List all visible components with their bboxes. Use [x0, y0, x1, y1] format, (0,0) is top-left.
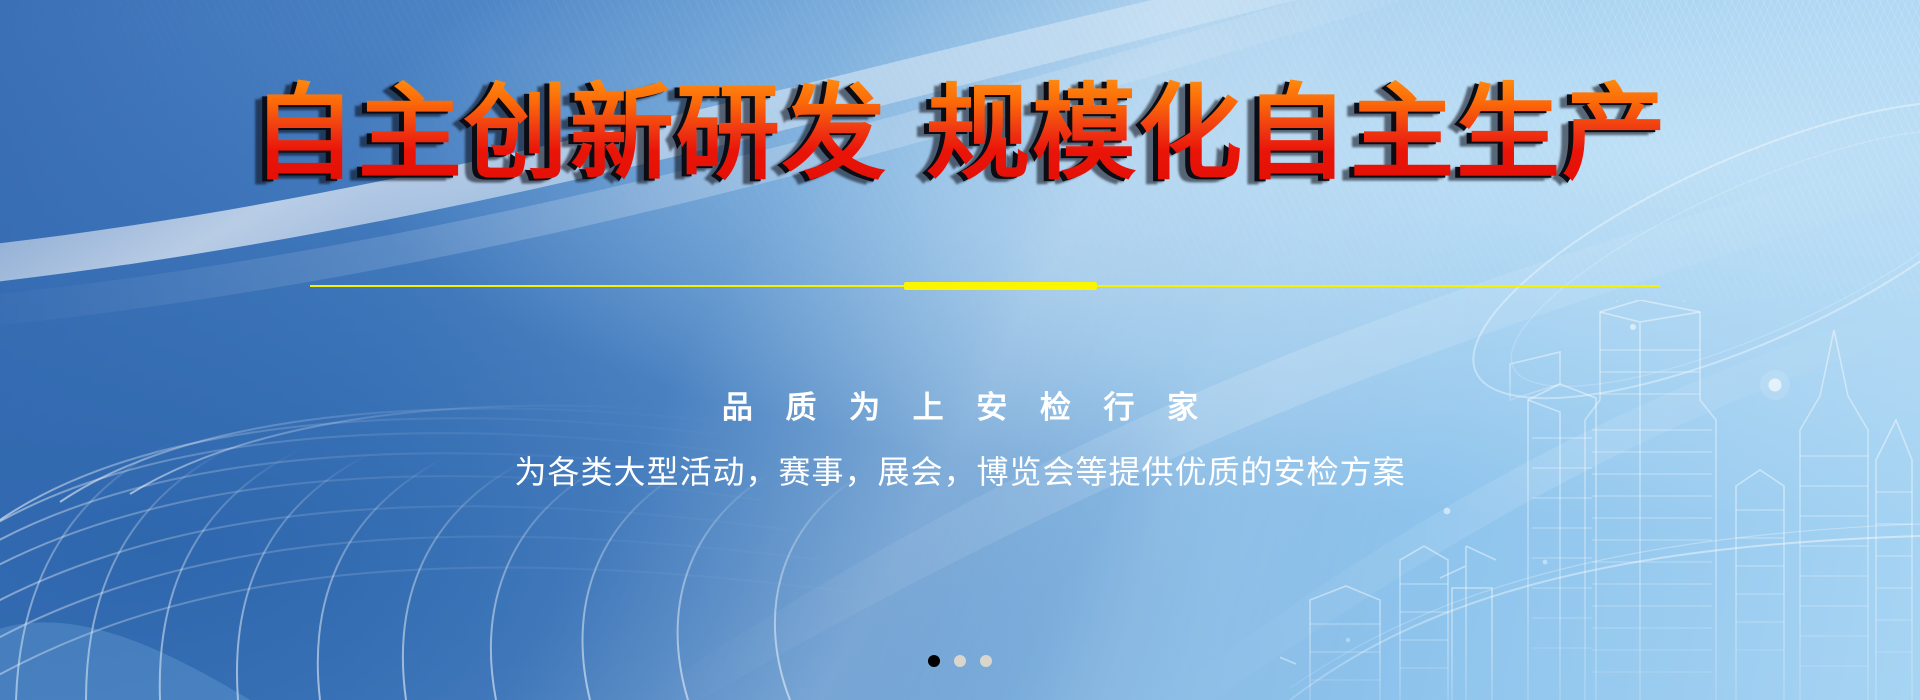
subtitle-primary: 品 质 为 上 安 检 行 家 — [0, 382, 1920, 427]
title-divider — [310, 282, 1660, 290]
banner-content: 自主创新研发 规模化自主生产 品 质 为 上 安 检 行 家 为各类大型活动，赛… — [0, 0, 1920, 700]
page-title: 自主创新研发 规模化自主生产 — [0, 78, 1920, 188]
subtitle-secondary: 为各类大型活动，赛事，展会，博览会等提供优质的安检方案 — [0, 447, 1920, 493]
carousel-dot-1[interactable] — [928, 655, 940, 667]
divider-highlight — [904, 282, 1097, 290]
carousel-dots[interactable] — [0, 655, 1920, 667]
hero-banner: 自主创新研发 规模化自主生产 品 质 为 上 安 检 行 家 为各类大型活动，赛… — [0, 0, 1920, 700]
carousel-dot-2[interactable] — [954, 655, 966, 667]
carousel-dot-3[interactable] — [980, 655, 992, 667]
